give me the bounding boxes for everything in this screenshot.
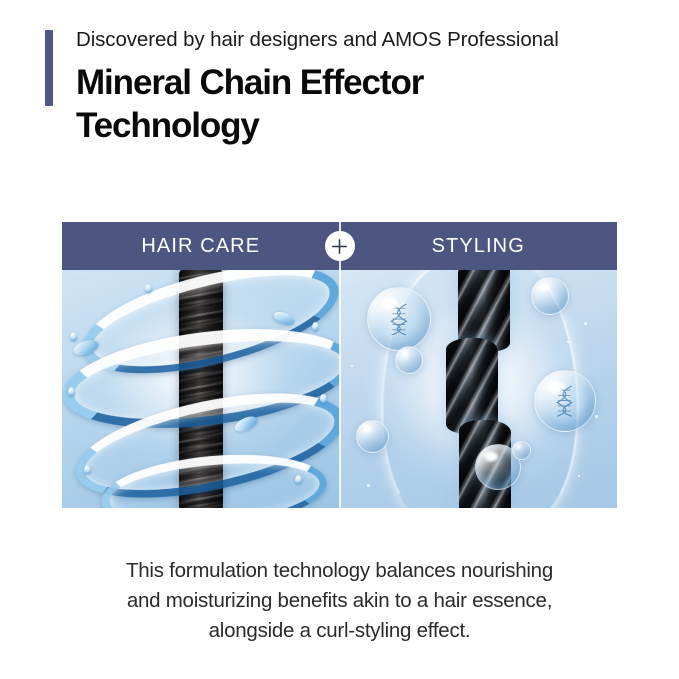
water-droplet [70,332,77,341]
sparkle-speck [578,475,580,477]
water-droplet [68,387,75,396]
water-droplet [320,394,327,403]
water-bubble [356,420,389,453]
water-bubble [531,277,569,315]
sparkle-speck [584,322,587,325]
page-title: Mineral Chain Effector Technology [76,61,556,147]
promo-page: Discovered by hair designers and AMOS Pr… [0,0,679,679]
comparison-figure: HAIR CARE STYLING [62,222,617,508]
water-droplet [84,465,91,474]
caption-line: alongside a curl-styling effect. [62,616,617,646]
panel-styling-image [340,270,618,508]
plus-icon [325,231,355,261]
header-text-group: Discovered by hair designers and AMOS Pr… [76,27,656,147]
caption-text: This formulation technology balances nou… [62,556,617,646]
banner-half-styling: STYLING [340,236,618,256]
sparkle-speck [351,365,353,367]
helix-icon [384,303,414,335]
banner-label-hair-care: HAIR CARE [141,236,260,256]
water-bubble [367,287,431,351]
caption-line: This formulation technology balances nou… [62,556,617,586]
water-bubble [534,370,596,432]
sparkle-speck [367,484,370,487]
accent-bar [45,30,53,106]
sparkle-speck [595,415,598,418]
water-bubble [395,346,423,374]
water-bubble [512,441,531,460]
water-droplet [295,475,302,484]
panel-divider [339,222,341,508]
banner-label-styling: STYLING [432,236,525,256]
banner-half-hair-care: HAIR CARE [62,236,340,256]
water-droplet [312,322,319,331]
panel-hair-care-image [62,270,340,508]
water-swirl-graphic [62,270,340,508]
eyebrow-text: Discovered by hair designers and AMOS Pr… [76,27,656,53]
helix-icon [550,385,579,416]
caption-line: and moisturizing benefits akin to a hair… [62,586,617,616]
